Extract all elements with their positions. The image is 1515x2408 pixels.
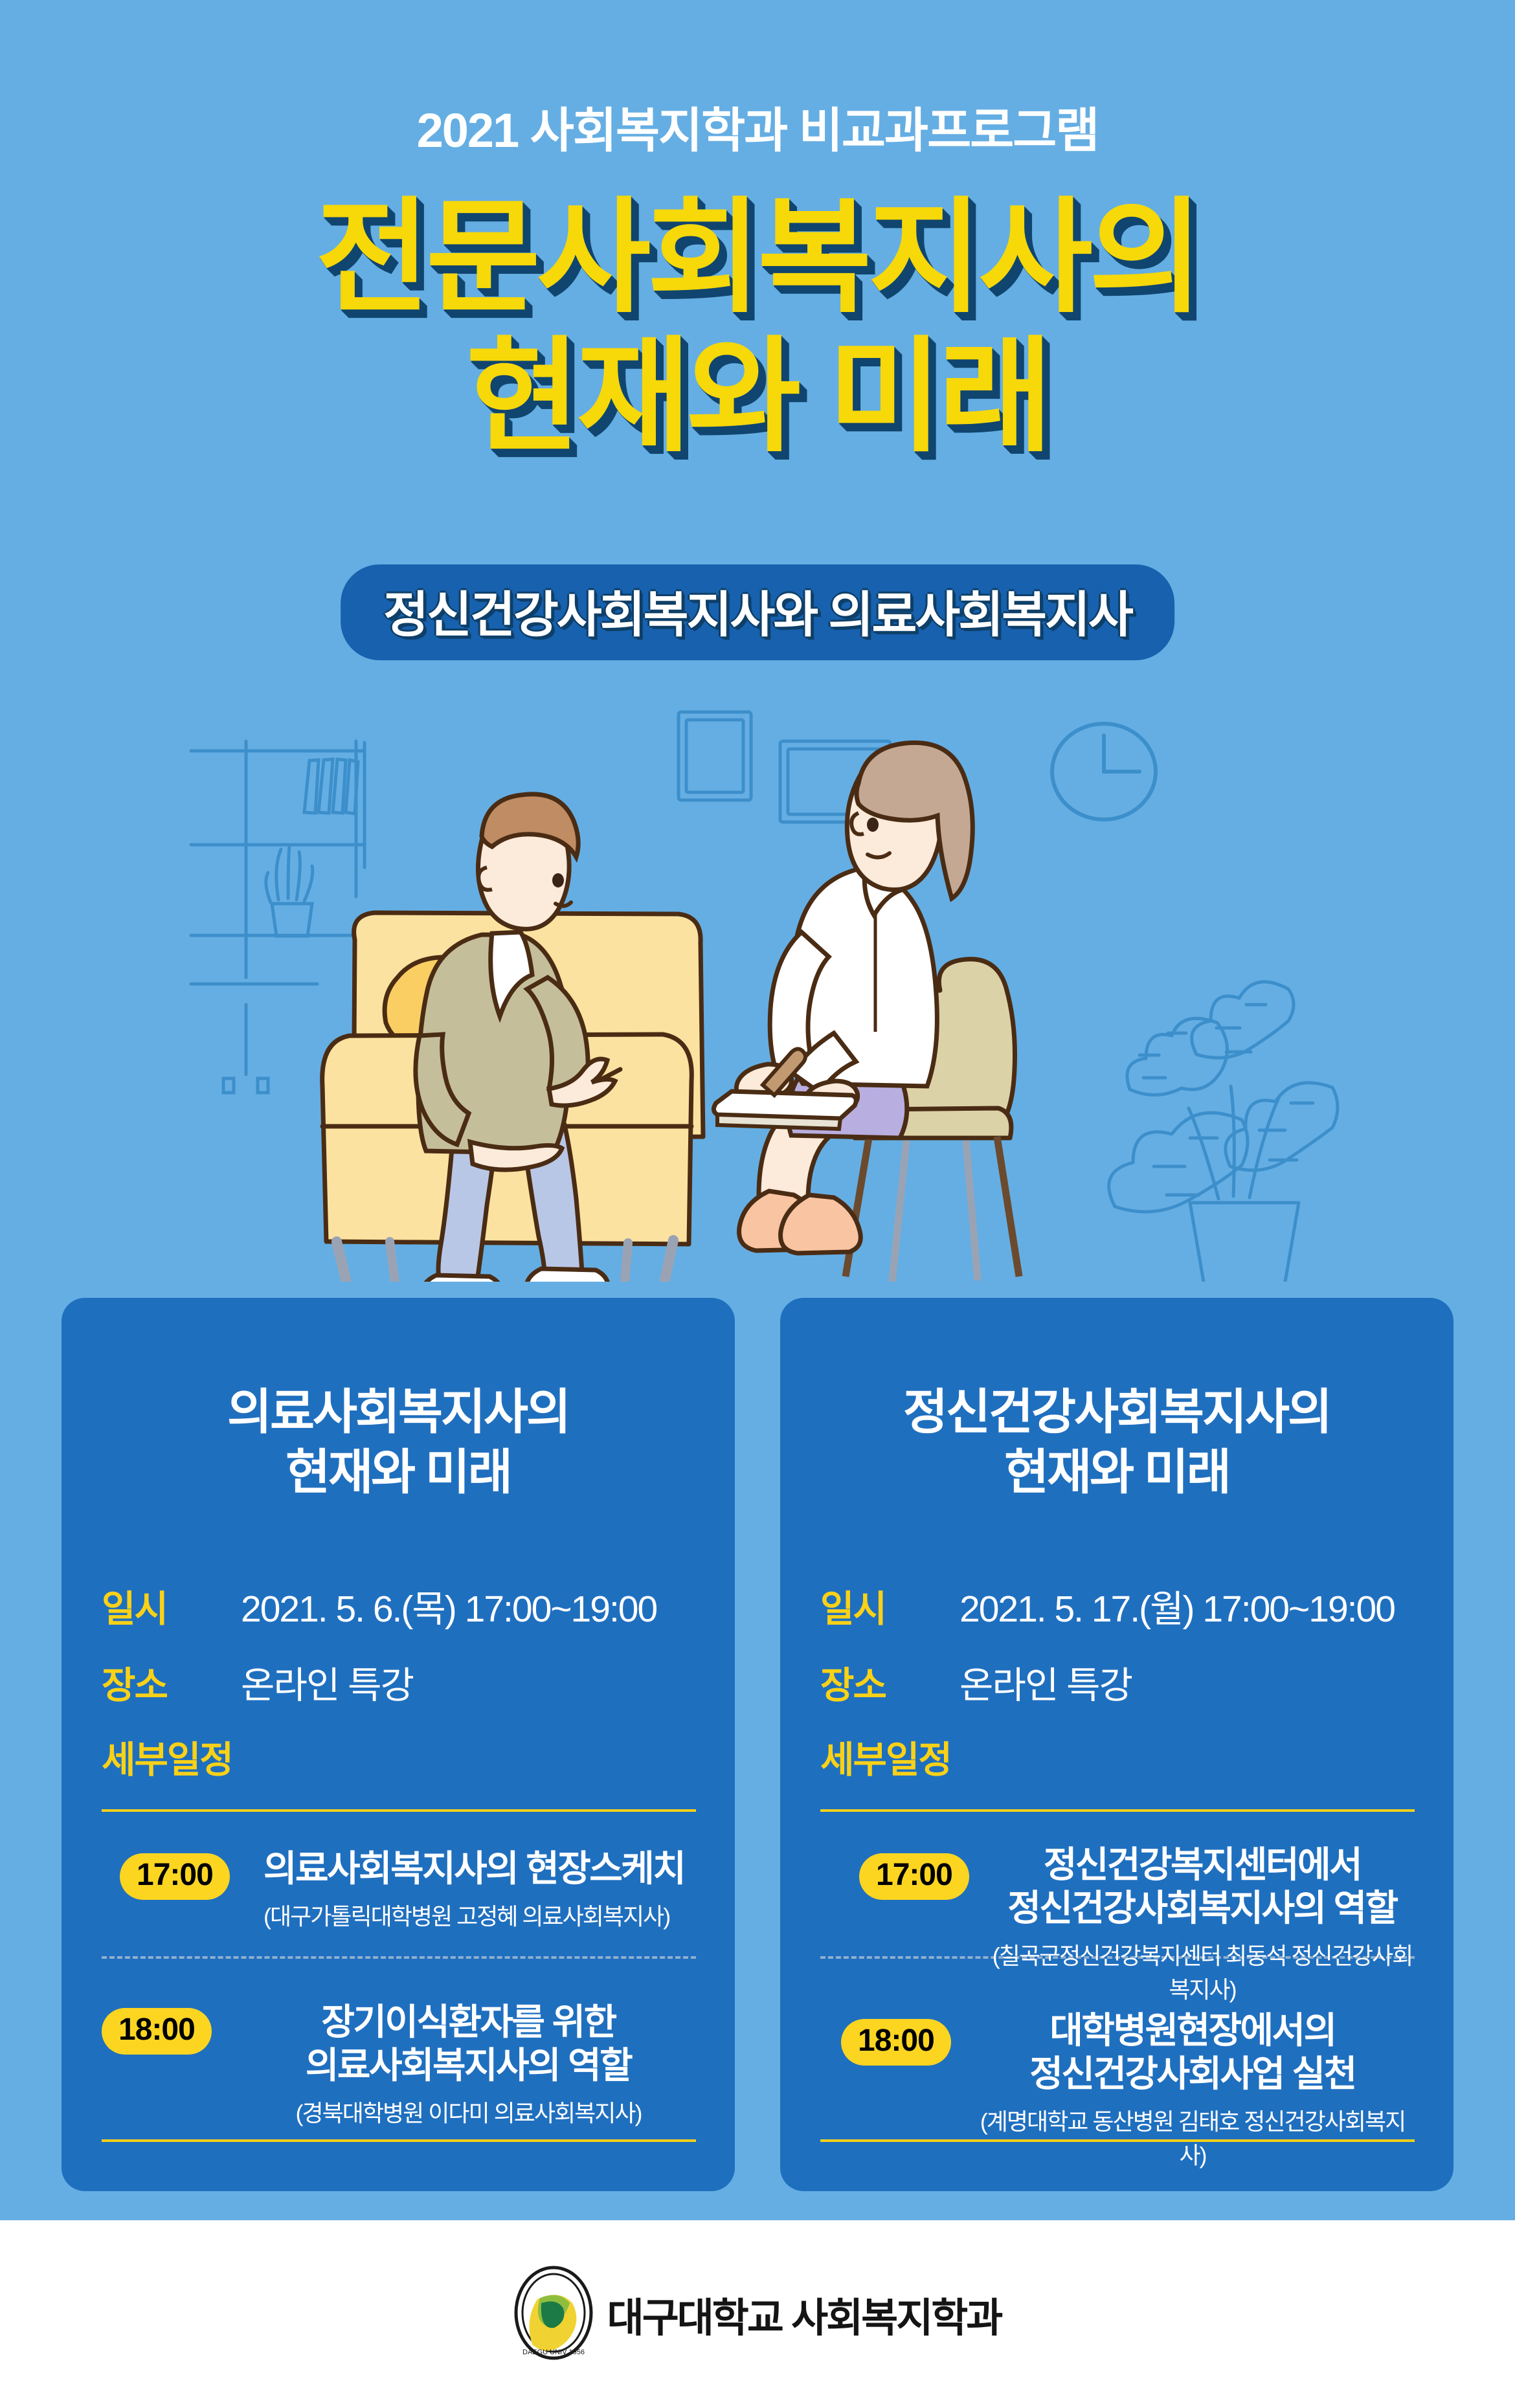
svg-text:DAEGU UNIV 1956: DAEGU UNIV 1956: [522, 2348, 585, 2356]
footer: DAEGU UNIV 1956 대구대학교 사회복지학과: [0, 2220, 1515, 2408]
session-speaker: (대구가톨릭대학병원 고정혜 의료사회복지사): [264, 1898, 696, 1932]
session-title-line-2: 정신건강사회복지사의 역할: [990, 1886, 1415, 1930]
meta-value-datetime: 2021. 5. 17.(월) 17:00~19:00: [959, 1589, 1395, 1630]
session-title: 의료사회복지사의 현장스케치: [264, 1847, 696, 1890]
session-title: 대학병원현장에서의 정신건강사회사업 실천: [971, 2009, 1415, 2095]
meta-location: 장소온라인 특강: [102, 1656, 697, 1709]
schedule-heading: 세부일정: [102, 1730, 232, 1783]
daegu-university-emblem-icon: DAEGU UNIV 1956: [514, 2266, 593, 2363]
meta-location: 장소온라인 특강: [820, 1656, 1416, 1709]
session-speaker: (경북대학병원 이다미 의료사회복지사): [241, 2095, 696, 2128]
meta-value-location: 온라인 특강: [241, 1665, 413, 1706]
meta-label-location: 장소: [102, 1656, 241, 1709]
schedule-heading: 세부일정: [820, 1730, 951, 1783]
meta-datetime: 일시2021. 5. 17.(월) 17:00~19:00: [820, 1579, 1416, 1633]
poster-root: 2021 사회복지학과 비교과프로그램 전문사회복지사의 현재와 미래 정신건강…: [0, 0, 1515, 2408]
session-title-line-1: 대학병원현장에서의: [1049, 2010, 1335, 2051]
session-time-badge: 18:00: [102, 2008, 212, 2055]
schedule-rule-bottom: [102, 2139, 696, 2142]
session-title-line-1: 의료사회복지사의 현장스케치: [264, 1848, 684, 1889]
subtitle-pill: 정신건강사회복지사와 의료사회복지사: [341, 564, 1174, 660]
schedule-rule-top: [820, 1809, 1415, 1812]
card-title-line-1: 의료사회복지사의: [227, 1385, 569, 1439]
program-kicker: 2021 사회복지학과 비교과프로그램: [0, 92, 1515, 161]
counseling-session-illustration: [0, 673, 1515, 1282]
main-title-line-1: 전문사회복지사의: [315, 188, 1199, 327]
session-title: 정신건강복지센터에서 정신건강사회복지사의 역할: [990, 1843, 1415, 1930]
potted-monstera-line-art: [1109, 982, 1338, 1282]
page-title: 전문사회복지사의 현재와 미래: [0, 188, 1515, 466]
session-title: 장기이식환자를 위한 의료사회복지사의 역할: [241, 2000, 696, 2087]
meta-label-datetime: 일시: [102, 1579, 241, 1633]
schedule-rule-top: [102, 1809, 696, 1812]
session-speaker: (계명대학교 동산병원 김태호 정신건강사회복지사): [971, 2103, 1415, 2170]
card-title-line-2: 현재와 미래: [62, 1442, 735, 1502]
wall-clock-line-art: [1052, 724, 1156, 819]
meta-datetime: 일시2021. 5. 6.(목) 17:00~19:00: [102, 1579, 697, 1633]
meta-label-datetime: 일시: [820, 1579, 959, 1633]
counselor-woman-seated: [713, 742, 972, 1253]
session-title-line-1: 장기이식환자를 위한: [321, 2001, 615, 2042]
session-title-line-2: 정신건강사회사업 실천: [971, 2052, 1415, 2095]
meta-value-datetime: 2021. 5. 6.(목) 17:00~19:00: [241, 1589, 656, 1630]
main-title-line-2: 현재와 미래: [0, 327, 1515, 466]
session-title-line-1: 정신건강복지센터에서: [1044, 1844, 1361, 1885]
session-speaker: (칠곡군정신건강복지센터 최동석 정신건강사회복지사): [990, 1937, 1415, 2005]
card-title: 의료사회복지사의 현재와 미래: [62, 1382, 735, 1502]
session-cards: 의료사회복지사의 현재와 미래 일시2021. 5. 6.(목) 17:00~1…: [62, 1298, 1453, 2191]
session-time-badge: 18:00: [841, 2019, 951, 2066]
card-mental-health-social-worker: 정신건강사회복지사의 현재와 미래 일시2021. 5. 17.(월) 17:0…: [780, 1298, 1453, 2191]
card-title-line-2: 현재와 미래: [780, 1442, 1453, 1502]
footer-organization: 대구대학교 사회복지학과: [607, 2285, 1002, 2343]
subtitle-text: 정신건강사회복지사와 의료사회복지사: [383, 588, 1132, 643]
schedule-rule-dashed: [102, 1956, 696, 1959]
meta-label-location: 장소: [820, 1656, 959, 1709]
session-body: 대학병원현장에서의 정신건강사회사업 실천 (계명대학교 동산병원 김태호 정신…: [971, 2009, 1415, 2170]
session-body: 장기이식환자를 위한 의료사회복지사의 역할 (경북대학병원 이다미 의료사회복…: [241, 2000, 696, 2128]
session-time-badge: 17:00: [120, 1853, 230, 1900]
card-title-line-1: 정신건강사회복지사의: [903, 1385, 1330, 1439]
card-medical-social-worker: 의료사회복지사의 현재와 미래 일시2021. 5. 6.(목) 17:00~1…: [62, 1298, 735, 2191]
session-body: 의료사회복지사의 현장스케치 (대구가톨릭대학병원 고정혜 의료사회복지사): [264, 1847, 696, 1932]
session-time-badge: 17:00: [859, 1853, 969, 1900]
session-title-line-2: 의료사회복지사의 역할: [241, 2044, 696, 2087]
card-title: 정신건강사회복지사의 현재와 미래: [780, 1382, 1453, 1502]
meta-value-location: 온라인 특강: [959, 1665, 1132, 1706]
session-body: 정신건강복지센터에서 정신건강사회복지사의 역할 (칠곡군정신건강복지센터 최동…: [990, 1843, 1415, 2005]
